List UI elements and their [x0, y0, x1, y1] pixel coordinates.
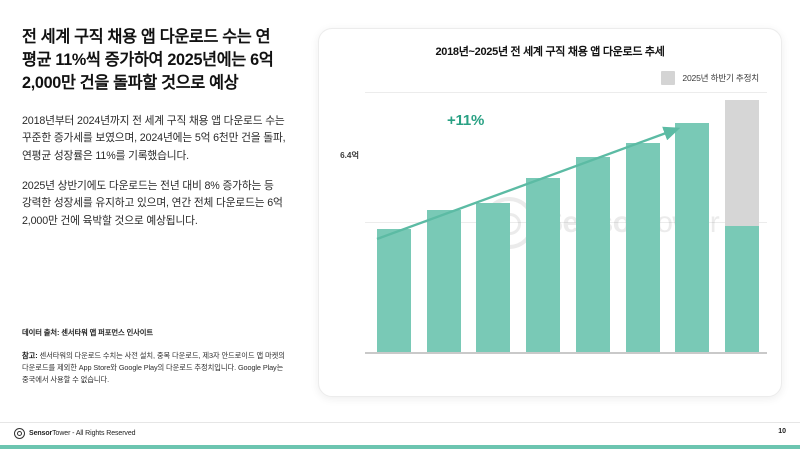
methodology-note: 참고: 센서타워의 다운로드 수치는 사전 설치, 중복 다운로드, 제3자 안… — [22, 350, 290, 385]
footer: SensorTower - All Rights Reserved 10 — [0, 423, 800, 445]
bar-group: 2018 — [377, 92, 411, 352]
bar-actual[interactable] — [476, 203, 510, 352]
footer-brand: Sensor — [29, 430, 52, 437]
data-source-label: 데이터 출처: — [22, 328, 59, 337]
page-title: 전 세계 구직 채용 앱 다운로드 수는 연 평균 11%씩 증가하여 2025… — [22, 26, 292, 95]
chart-card: 2018년~2025년 전 세계 구직 채용 앱 다운로드 추세 2025년 하… — [318, 28, 782, 397]
footer-copyright: SensorTower - All Rights Reserved — [14, 428, 135, 439]
data-source-note: 데이터 출처: 센서타워 앱 퍼포먼스 인사이트 — [22, 328, 290, 339]
bar-group: 2022 — [576, 92, 610, 352]
body-paragraph-2: 2025년 상반기에도 다운로드는 전년 대비 8% 증가하는 등 강력한 성장… — [22, 178, 292, 230]
bar-group: 2024 — [675, 92, 709, 352]
bar-actual[interactable] — [576, 157, 610, 352]
bar-actual[interactable] — [526, 178, 560, 352]
bar-actual[interactable] — [427, 210, 461, 352]
bar-actual[interactable] — [725, 226, 759, 352]
left-content-column: 전 세계 구직 채용 앱 다운로드 수는 연 평균 11%씩 증가하여 2025… — [22, 26, 292, 406]
bar-forecast[interactable] — [725, 100, 759, 226]
sensortower-logo-icon — [14, 428, 25, 439]
methodology-note-label: 참고: — [22, 351, 38, 360]
bar-actual[interactable] — [675, 123, 709, 352]
bar-group: 2020 — [476, 92, 510, 352]
footer-copyright-text: SensorTower - All Rights Reserved — [29, 430, 135, 437]
page-number: 10 — [778, 428, 786, 435]
footer-rights: Tower - All Rights Reserved — [52, 430, 135, 437]
chart-plot-area: 0억3.2억6.4억 SensorTower 20182019202020212… — [365, 29, 773, 396]
bar-group: 2021 — [526, 92, 560, 352]
bar-group: 2019 — [427, 92, 461, 352]
bottom-accent-strip — [0, 445, 800, 449]
bar-actual[interactable] — [377, 229, 411, 352]
methodology-note-value: 센서타워의 다운로드 수치는 사전 설치, 중복 다운로드, 제3자 안드로이드… — [22, 351, 285, 384]
bar-group: 2025 — [725, 92, 759, 352]
bar-actual[interactable] — [626, 143, 660, 352]
slide: 전 세계 구직 채용 앱 다운로드 수는 연 평균 11%씩 증가하여 2025… — [0, 0, 800, 449]
growth-annotation: +11% — [447, 112, 484, 129]
bar-group: 2023 — [626, 92, 660, 352]
body-paragraph-1: 2018년부터 2024년까지 전 세계 구직 채용 앱 다운로드 수는 꾸준한… — [22, 113, 292, 165]
footnotes: 데이터 출처: 센서타워 앱 퍼포먼스 인사이트 참고: 센서타워의 다운로드 … — [22, 328, 290, 385]
bar-series-layer: 20182019202020212022202320242025 — [369, 29, 767, 396]
y-axis-tick-label: 6.4억 — [340, 149, 359, 161]
data-source-value: 센서타워 앱 퍼포먼스 인사이트 — [61, 328, 153, 337]
